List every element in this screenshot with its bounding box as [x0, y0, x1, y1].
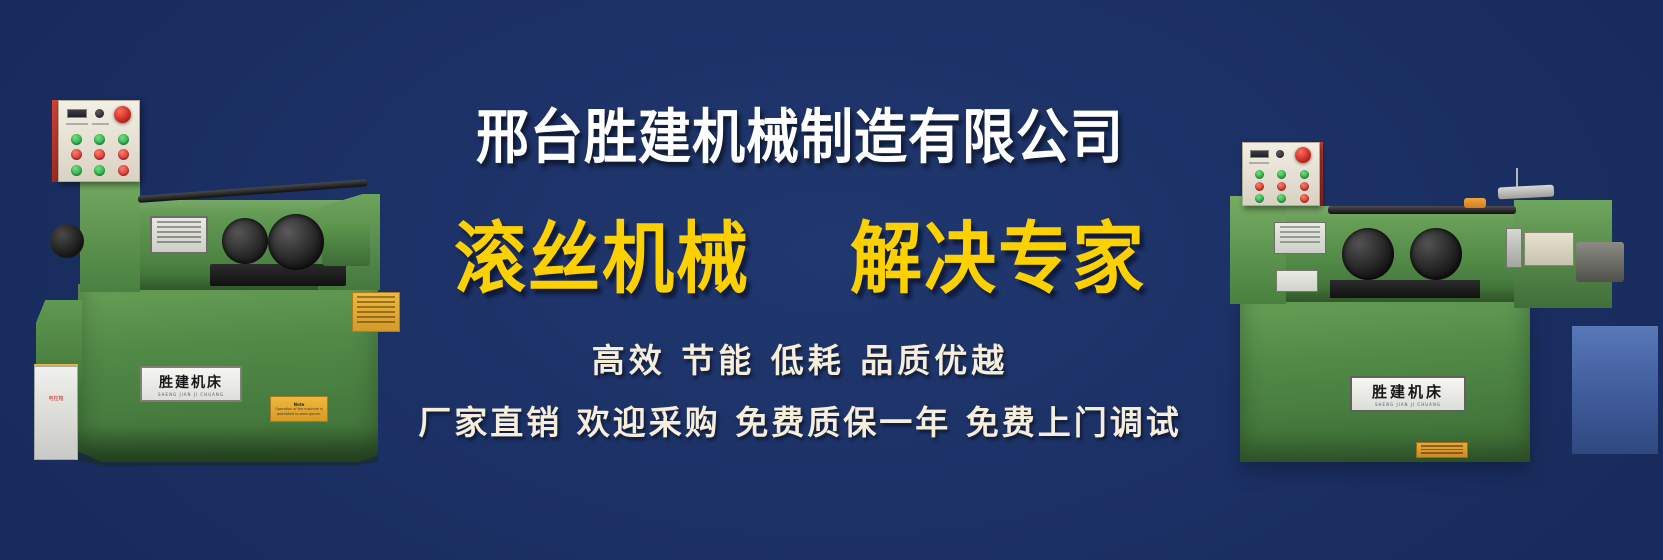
machine-right-top-tray [1498, 185, 1555, 200]
machine-right-name-plate: 胜建机床 SHENG JIAN JI CHUANG [1350, 376, 1466, 412]
machine-left-button-red-2[interactable] [94, 149, 105, 160]
machine-left-side-cabinet-label: 电控箱 [38, 396, 74, 404]
machine-right-secondary-plate [1276, 270, 1318, 292]
tagline-benefits: 高效 节能 低耗 品质优越 [400, 334, 1200, 382]
machine-right-control-panel [1242, 142, 1320, 206]
machine-right-work-bed [1330, 280, 1480, 298]
machine-right-panel-display [1250, 150, 1269, 158]
machine-left-button-grid[interactable] [65, 132, 135, 178]
machine-right-roller-die-a [1342, 228, 1394, 280]
banner-text-block: 邢台胜建机械制造有限公司 滚丝机械 解决专家 高效 节能 低耗 品质优越 厂家直… [400, 95, 1200, 444]
machine-left-work-bed [210, 264, 346, 286]
machine-right-button-red-2[interactable] [1277, 182, 1286, 191]
machine-left-spec-sticker [352, 292, 400, 332]
machine-left-button-green-1[interactable] [71, 134, 82, 145]
machine-right-hydraulic-tank [1572, 326, 1658, 454]
machine-left-button-green-2[interactable] [94, 134, 105, 145]
machine-left-button-green-4[interactable] [71, 165, 82, 176]
machine-right-info-label [1524, 232, 1574, 266]
machine-right-drive-shaft [1328, 206, 1516, 214]
machine-right-terminal-block [1464, 198, 1486, 208]
machine-right-button-green-2[interactable] [1277, 170, 1286, 179]
headline-row: 滚丝机械 解决专家 [400, 199, 1200, 304]
machine-right-button-green-1[interactable] [1255, 170, 1264, 179]
machine-left-control-panel [58, 100, 140, 182]
headline-left: 滚丝机械 [454, 195, 750, 308]
machine-right-spec-plate [1274, 222, 1326, 254]
promotional-banner: 电控箱 胜建机床 SHENG JIAN JI CHUANG Note Opera… [0, 0, 1663, 560]
machine-left-button-red-1[interactable] [71, 149, 82, 160]
machine-left-roller-die-b [268, 214, 324, 270]
tagline-offers: 厂家直销 欢迎采购 免费质保一年 免费上门调试 [400, 396, 1200, 444]
machine-left-button-green-5[interactable] [94, 165, 105, 176]
machine-right-gauge [1506, 228, 1522, 268]
machine-right-button-red-4[interactable] [1300, 194, 1309, 203]
machine-left-button-red-3[interactable] [118, 149, 129, 160]
machine-left-name-plate: 胜建机床 SHENG JIAN JI CHUANG [140, 366, 242, 402]
machine-right-warning-label [1416, 442, 1468, 458]
machine-left-panel-display [67, 109, 87, 118]
machine-right-panel-selector-knob[interactable] [1276, 150, 1284, 158]
machine-left-button-red-4[interactable] [118, 165, 129, 176]
machine-right-roller-die-b [1410, 228, 1462, 280]
machine-left-panel-label-line [92, 123, 109, 125]
machine-right-button-red-1[interactable] [1255, 182, 1264, 191]
machine-right-button-green-5[interactable] [1277, 194, 1286, 203]
machine-left-pulley [50, 224, 84, 258]
company-name: 邢台胜建机械制造有限公司 [400, 90, 1200, 175]
headline-right: 解决专家 [850, 195, 1146, 308]
machine-left-spec-plate [150, 216, 208, 254]
thread-rolling-machine-right: 胜建机床 SHENG JIAN JI CHUANG [1168, 124, 1663, 460]
machine-right-emergency-stop-button[interactable] [1295, 147, 1311, 163]
machine-left-panel-selector-knob[interactable] [95, 109, 104, 118]
machine-left-warning-body: Operation of the machine is prohibited t… [271, 407, 327, 416]
machine-left-base-shading [78, 426, 378, 466]
machine-right-name-plate-pinyin: SHENG JIAN JI CHUANG [1375, 402, 1441, 407]
machine-right-button-green-3[interactable] [1300, 170, 1309, 179]
machine-right-name-plate-text: 胜建机床 [1372, 381, 1444, 402]
machine-right-button-red-3[interactable] [1300, 182, 1309, 191]
machine-left-side-cabinet [34, 366, 78, 460]
machine-left-headstock [80, 174, 140, 292]
machine-left-roller-die-a [222, 218, 268, 264]
machine-left-motor [322, 222, 370, 266]
machine-left-name-plate-pinyin: SHENG JIAN JI CHUANG [158, 392, 224, 397]
machine-left-button-green-3[interactable] [118, 134, 129, 145]
machine-left-warning-label: Note Operation of the machine is prohibi… [270, 396, 328, 422]
machine-left-emergency-stop-button[interactable] [114, 106, 131, 123]
machine-right-button-grid[interactable] [1248, 168, 1316, 204]
machine-right-button-green-4[interactable] [1255, 194, 1264, 203]
machine-left-panel-label-line [66, 123, 88, 125]
machine-left-name-plate-text: 胜建机床 [159, 372, 223, 392]
machine-right-panel-label-line [1249, 162, 1269, 164]
machine-right-motor [1576, 242, 1624, 282]
thread-rolling-machine-left: 电控箱 胜建机床 SHENG JIAN JI CHUANG Note Opera… [22, 96, 418, 480]
